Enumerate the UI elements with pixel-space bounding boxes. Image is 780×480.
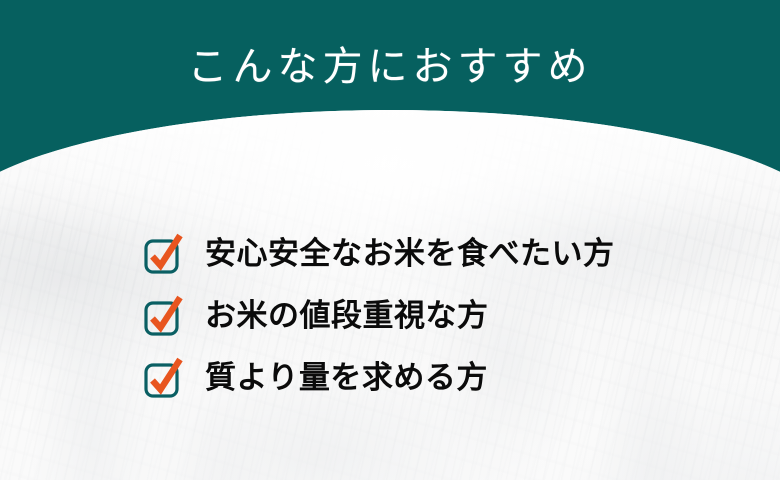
checkbox-checked-icon — [143, 294, 183, 338]
list-item-label: お米の値段重視な方 — [205, 299, 489, 333]
list-item-label: 安心安全なお米を食べたい方 — [205, 237, 615, 271]
list-item: 質より量を求める方 — [143, 355, 763, 401]
promo-banner: こんな方におすすめ 安心安全なお米を食べたい方 お米の値段重視な方 — [0, 0, 780, 480]
recommendation-checklist: 安心安全なお米を食べたい方 お米の値段重視な方 質より量を求める方 — [143, 231, 763, 401]
checkbox-checked-icon — [143, 232, 183, 276]
list-item: お米の値段重視な方 — [143, 293, 763, 339]
list-item-label: 質より量を求める方 — [205, 361, 488, 395]
checkbox-checked-icon — [143, 356, 183, 400]
list-item: 安心安全なお米を食べたい方 — [143, 231, 763, 277]
page-title: こんな方におすすめ — [0, 44, 780, 90]
